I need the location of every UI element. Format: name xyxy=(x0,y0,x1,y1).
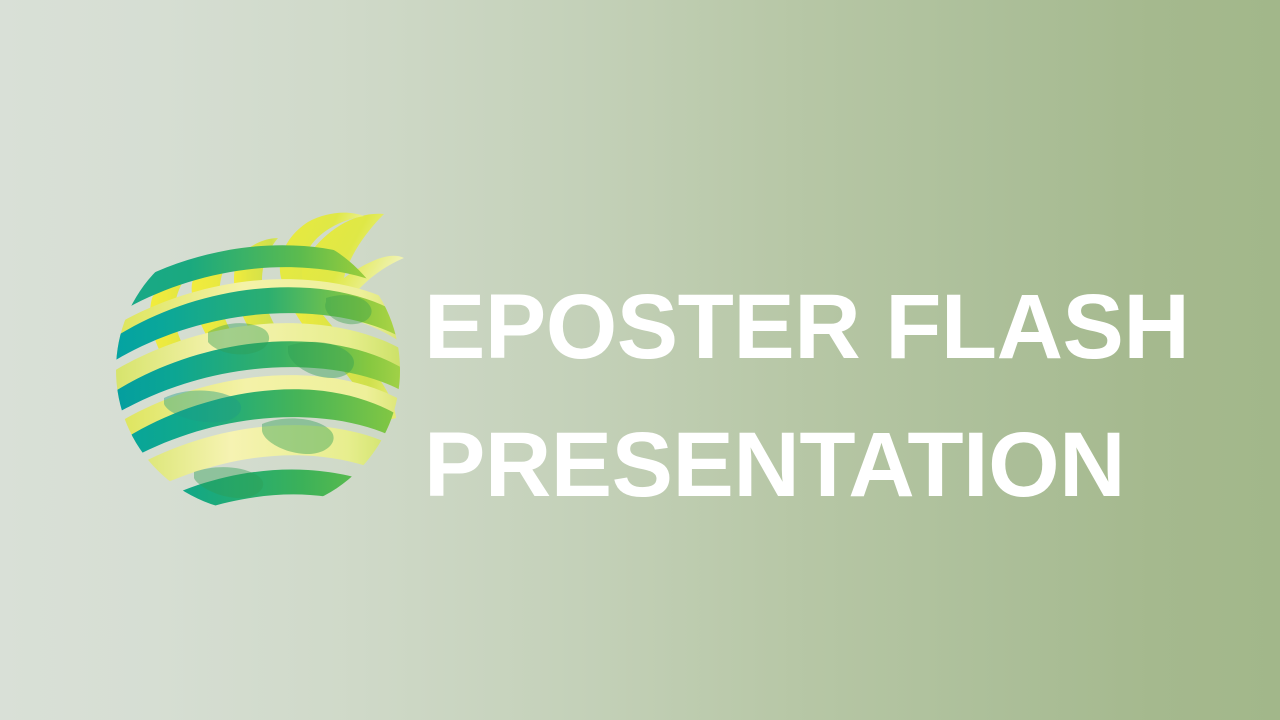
globe-logo-graphic xyxy=(112,202,408,514)
page-title: EPOSTER FLASH PRESENTATION xyxy=(424,258,1224,534)
spiral-ribbon-globe-logo xyxy=(112,202,408,514)
title-slide: EPOSTER FLASH PRESENTATION xyxy=(0,0,1280,720)
title-line-2: PRESENTATION xyxy=(424,396,1224,534)
title-line-1: EPOSTER FLASH xyxy=(424,258,1224,396)
